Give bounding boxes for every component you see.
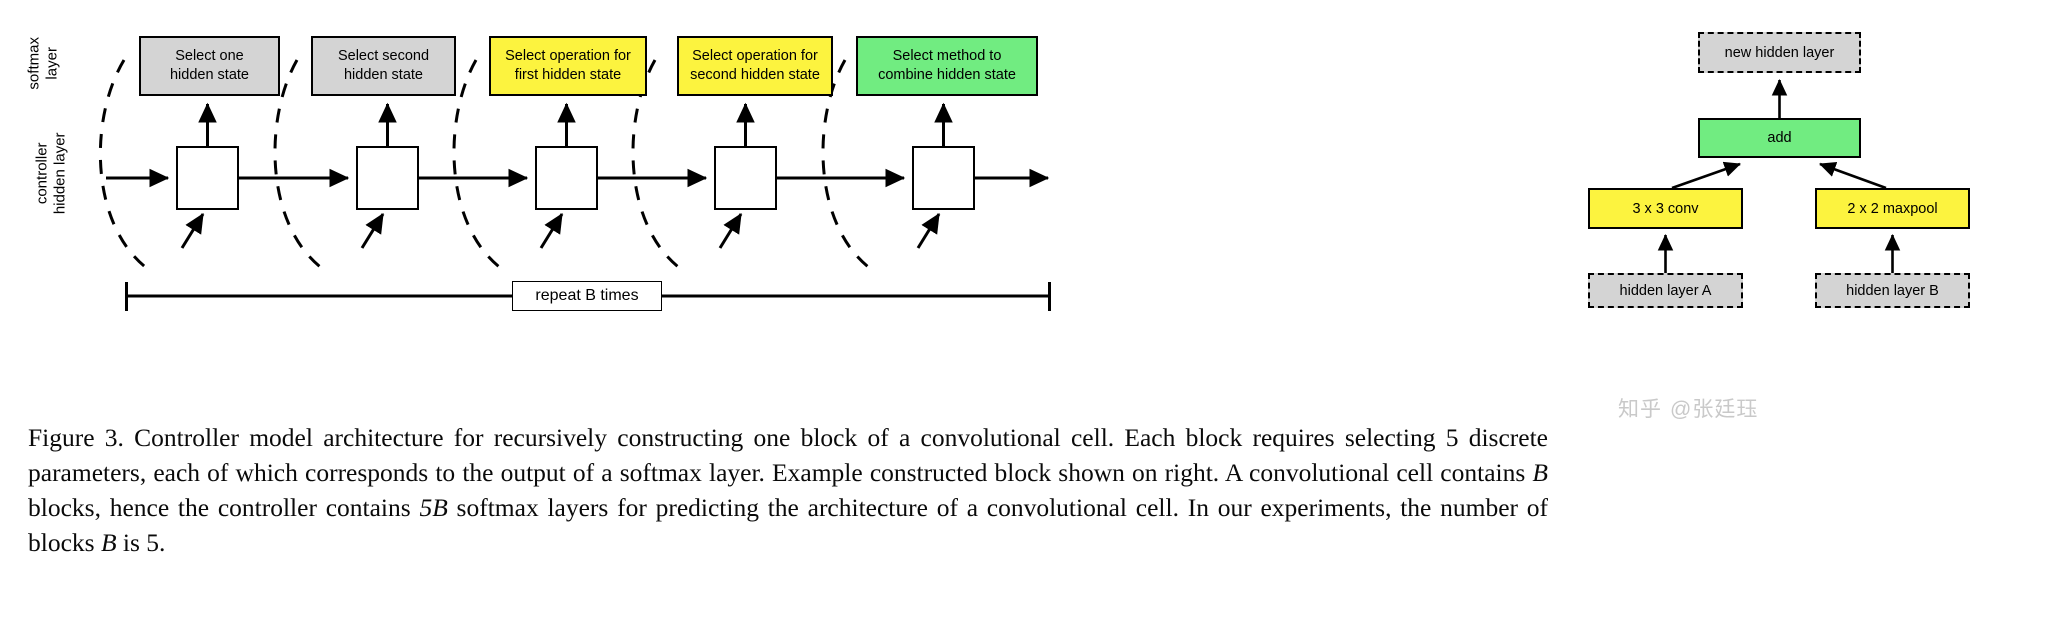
caption-part-1: Controller model architecture for recurs… <box>28 423 1548 487</box>
block-add[interactable]: add <box>1698 118 1861 158</box>
block-new-hidden-layer[interactable]: new hidden layer <box>1698 32 1861 73</box>
caption-math-5b: 5B <box>419 493 447 522</box>
softmax-box-select-second-hidden-state[interactable]: Select second hidden state <box>311 36 456 96</box>
cell-to-softmax-arrows <box>208 104 944 146</box>
softmax-box-select-operation-first-hidden-state[interactable]: Select operation for first hidden state <box>489 36 647 96</box>
axis-label-softmax-layer: softmax layer <box>26 23 63 103</box>
zhihu-logo-icon: 知乎 <box>1618 393 1662 423</box>
block-operation-2x2-maxpool[interactable]: 2 x 2 maxpool <box>1815 188 1970 229</box>
caption-math-b-1: B <box>1532 458 1548 487</box>
softmax-box-select-operation-second-hidden-state[interactable]: Select operation for second hidden state <box>677 36 833 96</box>
controller-cell[interactable] <box>912 146 975 210</box>
controller-cell[interactable] <box>714 146 777 210</box>
block-diagram-arrows <box>1666 80 1893 273</box>
figure-3-root: softmax layer controller hidden layer Se… <box>0 0 2064 624</box>
caption-part-4: is 5. <box>117 528 166 557</box>
controller-cell[interactable] <box>356 146 419 210</box>
softmax-box-select-method-to-combine-hidden-state[interactable]: Select method to combine hidden state <box>856 36 1038 96</box>
softmax-box-select-one-hidden-state[interactable]: Select one hidden state <box>139 36 280 96</box>
caption-figure-number: Figure 3. <box>28 423 124 452</box>
axis-label-controller-hidden-layer: controller hidden layer <box>34 113 71 233</box>
block-operation-3x3-conv[interactable]: 3 x 3 conv <box>1588 188 1743 229</box>
caption-part-2: blocks, hence the controller contains <box>28 493 419 522</box>
figure-caption: Figure 3. Controller model architecture … <box>28 420 1548 560</box>
repeat-b-times-label: repeat B times <box>512 281 662 311</box>
controller-cell[interactable] <box>535 146 598 210</box>
block-input-hidden-layer-b[interactable]: hidden layer B <box>1815 273 1970 308</box>
caption-math-b-2: B <box>101 528 117 557</box>
cell-input-arrows <box>182 214 939 248</box>
block-input-hidden-layer-a[interactable]: hidden layer A <box>1588 273 1743 308</box>
watermark: 知乎 @张廷珏 <box>1618 393 1758 423</box>
controller-cell[interactable] <box>176 146 239 210</box>
watermark-username: @张廷珏 <box>1670 393 1758 423</box>
